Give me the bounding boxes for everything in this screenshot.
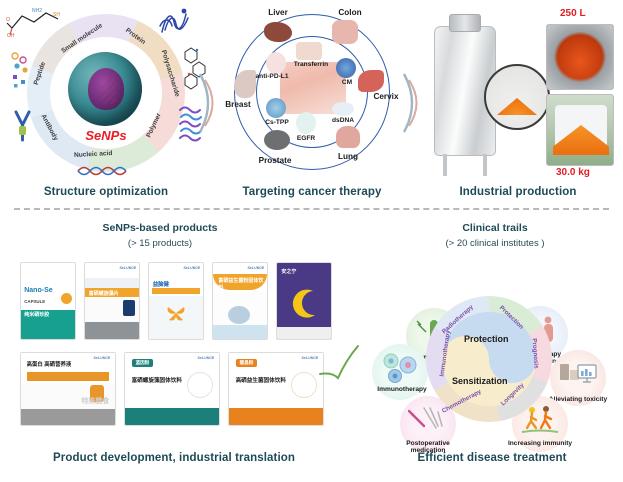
product-title-cn: 富硒益生菌粉固体饮料 <box>218 277 267 291</box>
badge-icon <box>61 293 72 304</box>
prostate-icon <box>264 130 290 150</box>
shield-icon <box>123 300 135 316</box>
product-card: 富硒益生菌粉固体饮料 SeLUNCE <box>212 262 268 340</box>
label-breast: Breast <box>214 100 262 109</box>
label-increasing-immunity: Increasing immunity <box>502 440 578 447</box>
brand-logo: SeLUNCE <box>198 356 215 360</box>
product-title-cn: 富硒螺旋藻片 <box>89 290 119 297</box>
immune-cells-icon <box>380 352 420 386</box>
brand-logo: SeLUNCE <box>94 356 111 360</box>
koala-icon <box>228 306 250 324</box>
label-mass: 30.0 kg <box>556 167 590 178</box>
label-anti-pd-l1: anti-PD-L1 <box>252 74 292 81</box>
label-cm: CM <box>334 80 360 87</box>
product-title-cn: 高蛋白 高硒营养液 <box>27 360 72 368</box>
brand-logo: SeLUNCE <box>120 266 137 270</box>
label-egfr: EGFR <box>288 136 324 143</box>
transferrin-icon <box>296 42 322 60</box>
label-lung: Lung <box>326 152 370 161</box>
panel-structure-optimization: SeNPs Small molecule Protein Polysacchar… <box>6 4 206 182</box>
dna-double-helix-icon <box>76 162 128 180</box>
monitor-chart-icon <box>558 360 598 388</box>
cm-icon <box>336 58 356 78</box>
antibody-icon <box>8 108 36 146</box>
dna-helix-icon <box>100 78 116 104</box>
product-tag-cn: 特殊膳食 <box>81 396 109 406</box>
product-title-cn: 纯米硒珍胶 <box>24 311 49 318</box>
products-note: (> 15 products) <box>50 238 270 249</box>
moon-icon <box>287 287 321 321</box>
panel-industrial-production: 250 L 30.0 kg Industrial production <box>418 4 618 182</box>
product-card: 蓝因粉 富硒螺旋藻固体饮料 SeLUNCE <box>124 352 220 426</box>
label-immunotherapy: Immunotherapy <box>364 386 440 393</box>
product-card: 益脑健 SeLUNCE <box>148 262 204 340</box>
section-divider <box>14 208 609 210</box>
caption-efficient-disease-treatment: Efficient disease treatment <box>372 452 612 464</box>
caption-structure-optimization: Structure optimization <box>6 186 206 198</box>
caption-targeting-cancer-therapy: Targeting cancer therapy <box>212 186 412 198</box>
product-title-cn: 益脑健 <box>153 280 169 288</box>
caption-product-development: Product development, industrial translat… <box>14 452 334 464</box>
label-liver: Liver <box>254 8 302 17</box>
selenium-powder-icon <box>497 98 537 115</box>
brand-logo: SeLUNCE <box>248 266 265 270</box>
pinwheel-icon <box>165 303 187 323</box>
label-colon: Colon <box>326 8 374 17</box>
panel-targeting-cancer-therapy: Liver Colon Cervix Lung Prostate Breast … <box>212 4 412 182</box>
product-card: 安之宁 <box>276 262 332 340</box>
senps-center-label: SeNPs <box>6 128 206 143</box>
cs-tpp-icon <box>266 98 286 118</box>
svg-text:SH: SH <box>53 12 60 18</box>
brand-logo: SeLUNCE <box>184 266 201 270</box>
product-card: 富硒螺旋藻片 SeLUNCE <box>84 262 140 340</box>
graphical-abstract: SeNPs Small molecule Protein Polysacchar… <box>0 0 623 482</box>
caption-industrial-production: Industrial production <box>418 186 618 198</box>
magnified-powder-view <box>484 64 550 130</box>
product-card: 高蛋白 高硒营养液 特殊膳食 SeLUNCE <box>20 352 116 426</box>
product-sub-en: CAPSULE <box>24 299 45 304</box>
product-tag-cn: 蓝因粉 <box>132 359 154 367</box>
egfr-icon <box>296 112 316 134</box>
arrow-products-to-treatment <box>316 344 364 392</box>
label-cs-tpp: Cs-TPP <box>256 120 298 127</box>
product-card: 暖昌粉 高硒益生菌固体饮料 SeLUNCE <box>228 352 324 426</box>
dsdna-icon <box>332 102 354 116</box>
powder-harvest-photo <box>546 94 614 166</box>
decorative-circle-icon <box>291 372 317 398</box>
svg-text:NH2: NH2 <box>32 8 42 14</box>
label-transferrin: Transferrin <box>284 62 338 69</box>
label-protection-center: Protection <box>464 334 509 344</box>
colon-icon <box>332 20 358 44</box>
product-card: Nano-Se CAPSULE 纯米硒珍胶 <box>20 262 76 340</box>
lung-icon <box>336 126 360 148</box>
cervix-icon <box>358 70 384 92</box>
liver-icon <box>264 22 292 42</box>
panel-efficient-disease-treatment: Chemotherapy Radiotherapy protection All… <box>372 288 612 460</box>
product-title-cn: 高硒益生菌固体饮料 <box>236 376 286 384</box>
products-title: SeNPs-based products <box>50 222 270 234</box>
senp-nanoparticle-icon <box>68 52 142 126</box>
decorative-circle-icon <box>187 372 213 398</box>
label-volume: 250 L <box>560 8 586 19</box>
svg-text:O: O <box>6 17 10 23</box>
peptide-beads-icon <box>8 50 38 90</box>
product-title-cn: 安之宁 <box>281 268 296 275</box>
clinical-note: (> 20 clinical institutes ) <box>400 238 590 249</box>
label-prostate: Prostate <box>248 156 302 165</box>
anti-pd-l1-icon <box>266 52 286 74</box>
product-tag-cn: 暖昌粉 <box>236 359 258 367</box>
label-dsdna: dsDNA <box>324 118 362 125</box>
svg-text:OH: OH <box>7 33 15 38</box>
clinical-title: Clinical trails <box>400 222 590 234</box>
product-title-cn: 富硒螺旋藻固体饮料 <box>132 376 182 384</box>
protein-ribbon-icon <box>158 6 192 36</box>
label-sensitization-center: Sensitization <box>452 376 508 386</box>
product-title-en: Nano-Se <box>24 287 52 294</box>
reactor-vessel-photo <box>546 24 614 90</box>
